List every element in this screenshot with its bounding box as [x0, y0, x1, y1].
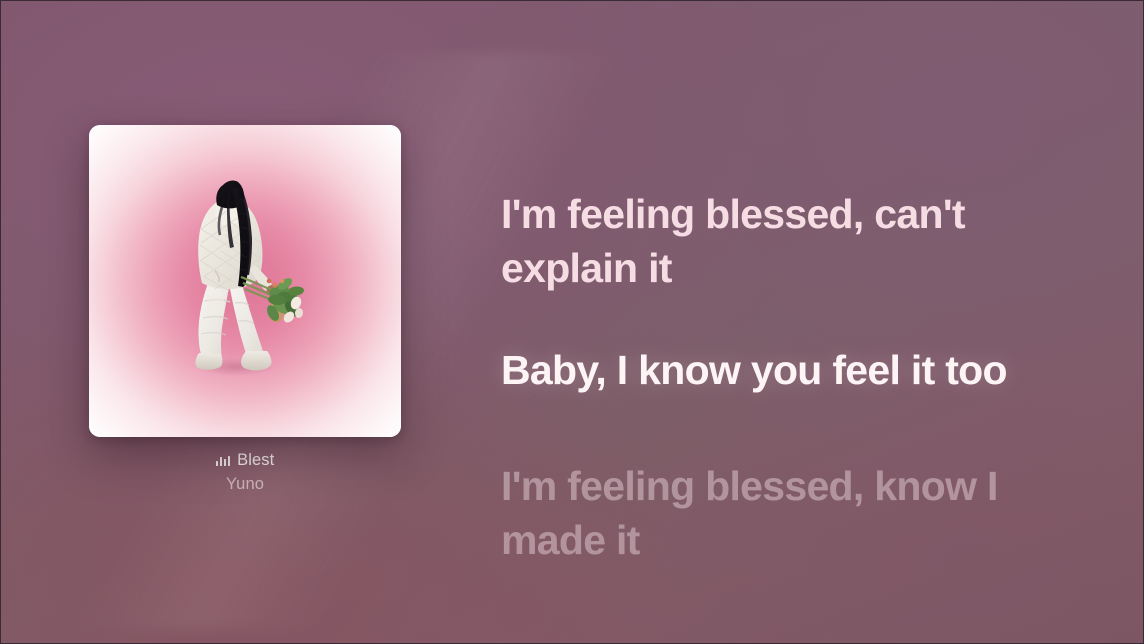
now-playing-lyrics-screen: Blest Yuno I'm feeling blessed, can't ex…: [0, 0, 1144, 644]
track-artist[interactable]: Yuno: [89, 474, 401, 494]
equalizer-bars-icon: [216, 455, 231, 466]
lyric-line-previous[interactable]: I'm feeling blessed, can't explain it: [501, 187, 1061, 295]
lyrics-panel: I'm feeling blessed, can't explain it Ba…: [501, 187, 1061, 567]
lyric-line-active[interactable]: Baby, I know you feel it too: [501, 343, 1061, 397]
track-title: Blest: [237, 451, 274, 470]
album-artwork[interactable]: [89, 125, 401, 437]
track-metadata: Blest Yuno: [89, 451, 401, 494]
track-title-row: Blest: [89, 451, 401, 470]
artwork-figure: [89, 125, 401, 437]
now-playing-panel: Blest Yuno: [89, 125, 401, 494]
lyric-line-next[interactable]: I'm feeling blessed, know I made it: [501, 459, 1061, 567]
